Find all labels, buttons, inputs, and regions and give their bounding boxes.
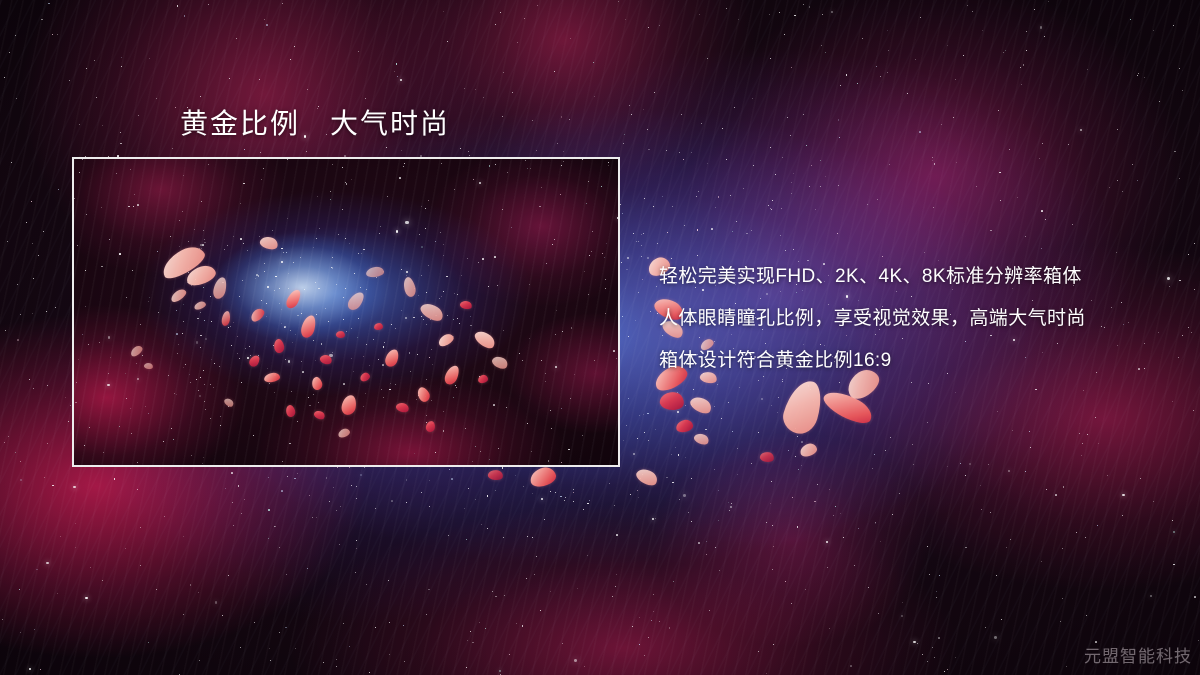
panel-nebula-filament bbox=[74, 159, 618, 465]
presentation-slide: 黄金比例 大气时尚 轻松完美实现FHD、2K、4K、8K标准分辨率箱体 人体眼睛… bbox=[0, 0, 1200, 675]
body-text-line-1: 轻松完美实现FHD、2K、4K、8K标准分辨率箱体 bbox=[659, 256, 1179, 298]
petal bbox=[688, 393, 714, 416]
body-text-line-2: 人体眼睛瞳孔比例，享受视觉效果，高端大气时尚 bbox=[659, 298, 1179, 340]
petal bbox=[675, 419, 694, 434]
petal bbox=[374, 323, 383, 330]
petal bbox=[659, 390, 685, 411]
petal bbox=[759, 451, 775, 463]
petal bbox=[528, 465, 558, 489]
body-text-block: 轻松完美实现FHD、2K、4K、8K标准分辨率箱体 人体眼睛瞳孔比例，享受视觉效… bbox=[659, 256, 1179, 382]
framed-panel-content bbox=[74, 159, 618, 465]
watermark-label: 元盟智能科技 bbox=[1084, 642, 1192, 667]
petal bbox=[487, 469, 503, 481]
petal bbox=[693, 431, 711, 446]
petal bbox=[634, 465, 660, 488]
petal bbox=[799, 442, 819, 458]
framed-image-panel bbox=[72, 157, 620, 467]
body-text-line-3: 箱体设计符合黄金比例16:9 bbox=[659, 340, 1179, 382]
page-title: 黄金比例 大气时尚 bbox=[180, 102, 450, 142]
petal bbox=[779, 376, 827, 437]
